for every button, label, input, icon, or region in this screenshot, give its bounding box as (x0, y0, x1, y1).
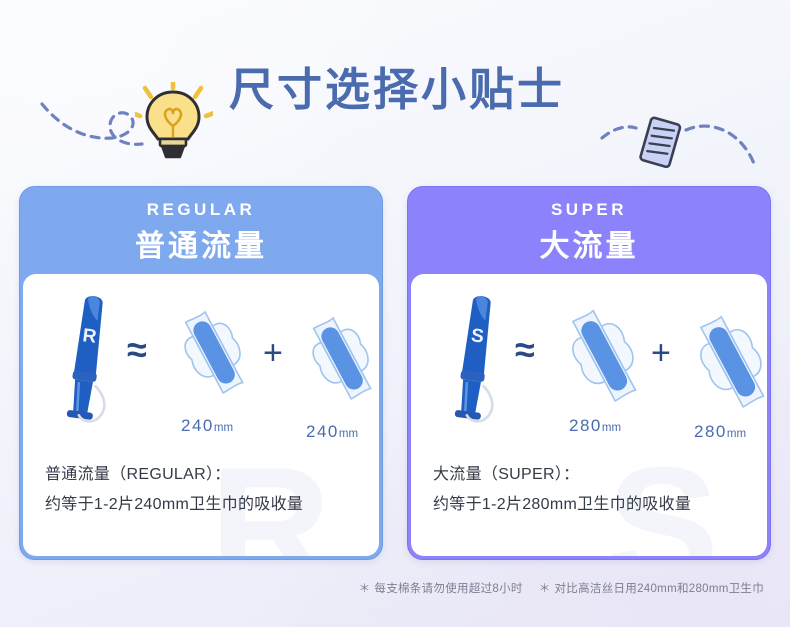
card-regular-illustration: R ≈ + (23, 280, 379, 440)
pad-icon-super-1 (563, 306, 649, 411)
pad-size-label-super-1: 280mm (569, 416, 621, 436)
card-super-en-label: SUPER (551, 200, 627, 220)
card-super-header: SUPER 大流量 (411, 190, 767, 274)
pad-icon-regular-1 (175, 306, 255, 403)
pad-size-label-regular-1: 240mm (181, 416, 233, 436)
footnote-1: ＊每支棉条请勿使用超过8小时 (359, 580, 523, 596)
card-regular-body: R R (23, 274, 379, 556)
card-super[interactable]: SUPER 大流量 S S (407, 186, 771, 560)
plus-symbol-regular: + (263, 336, 283, 370)
plus-symbol-super: + (651, 336, 671, 370)
card-regular-en-label: REGULAR (147, 200, 256, 220)
approx-symbol-regular: ≈ (127, 332, 147, 368)
card-regular-desc-line1: 普通流量（REGULAR）： (45, 460, 363, 490)
card-super-body: S S (411, 274, 767, 556)
card-regular[interactable]: REGULAR 普通流量 R R (19, 186, 383, 560)
card-super-cn-label: 大流量 (540, 221, 639, 265)
pad-icon-super-2 (691, 312, 767, 417)
card-super-desc-line2: 约等于1-2片280mm卫生巾的吸收量 (433, 490, 751, 520)
pad-size-label-super-2: 280mm (694, 422, 746, 442)
page-title: 尺寸选择小贴士 (229, 67, 565, 112)
tampon-regular-letter: R (81, 325, 97, 348)
card-super-illustration: S ≈ + (411, 280, 767, 440)
card-super-description: 大流量（SUPER）： 约等于1-2片280mm卫生巾的吸收量 (433, 460, 751, 520)
pad-icon-regular-2 (303, 312, 379, 409)
card-regular-header: REGULAR 普通流量 (23, 190, 379, 274)
footnote-2: ＊对比高洁丝日用240mm和280mm卫生巾 (539, 580, 764, 596)
approx-symbol-super: ≈ (515, 332, 535, 368)
tampon-regular-icon: R (47, 290, 129, 445)
pad-size-label-regular-2: 240mm (306, 422, 358, 442)
page-header: 尺寸选择小贴士 (0, 34, 790, 144)
footnotes: ＊每支棉条请勿使用超过8小时 ＊对比高洁丝日用240mm和280mm卫生巾 (0, 580, 790, 596)
tampon-super-icon: S (435, 290, 517, 445)
card-regular-cn-label: 普通流量 (135, 221, 267, 265)
size-cards: REGULAR 普通流量 R R (0, 186, 790, 560)
card-regular-description: 普通流量（REGULAR）： 约等于1-2片240mm卫生巾的吸收量 (45, 460, 363, 520)
dashed-swirl-right-icon (600, 112, 760, 171)
tampon-super-letter: S (470, 325, 485, 347)
card-super-desc-line1: 大流量（SUPER）： (433, 460, 751, 490)
card-regular-desc-line2: 约等于1-2片240mm卫生巾的吸收量 (45, 490, 363, 520)
